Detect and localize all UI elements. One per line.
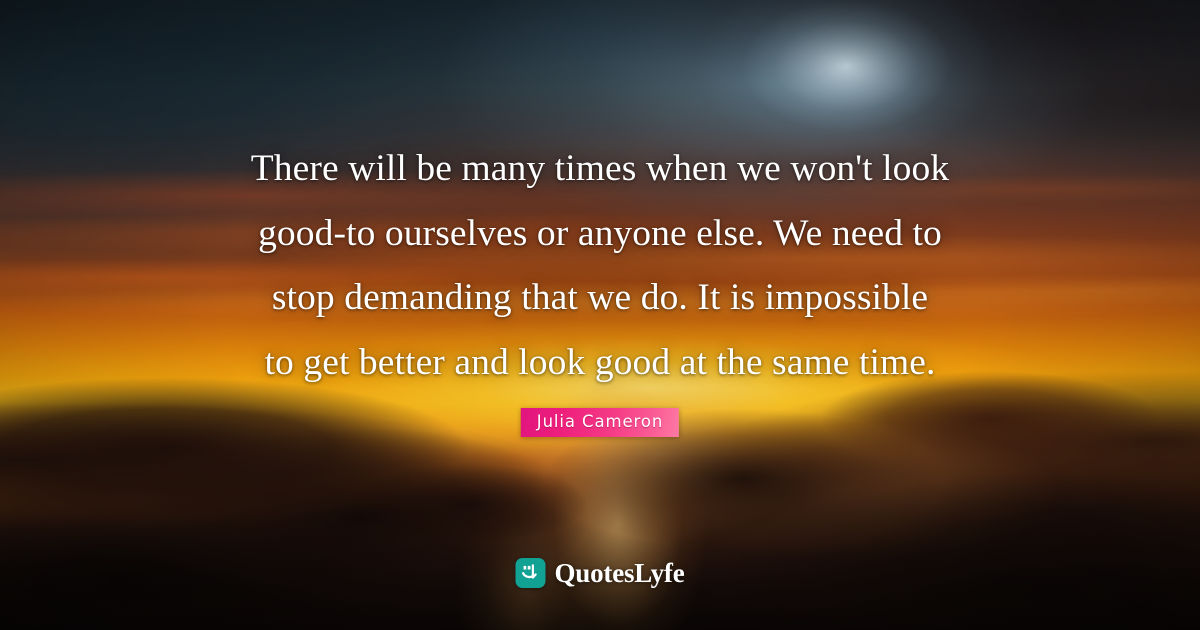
author-name: Julia Cameron bbox=[537, 414, 663, 431]
quote-card: There will be many times when we won't l… bbox=[0, 0, 1200, 630]
quote-text: There will be many times when we won't l… bbox=[0, 137, 1200, 395]
brand-name: QuotesLyfe bbox=[555, 560, 685, 587]
quote-content: There will be many times when we won't l… bbox=[0, 0, 1200, 630]
brand-logo[interactable]: QuotesLyfe bbox=[516, 558, 685, 588]
author-badge: Julia Cameron bbox=[521, 408, 679, 437]
quote-smiley-icon bbox=[516, 558, 546, 588]
